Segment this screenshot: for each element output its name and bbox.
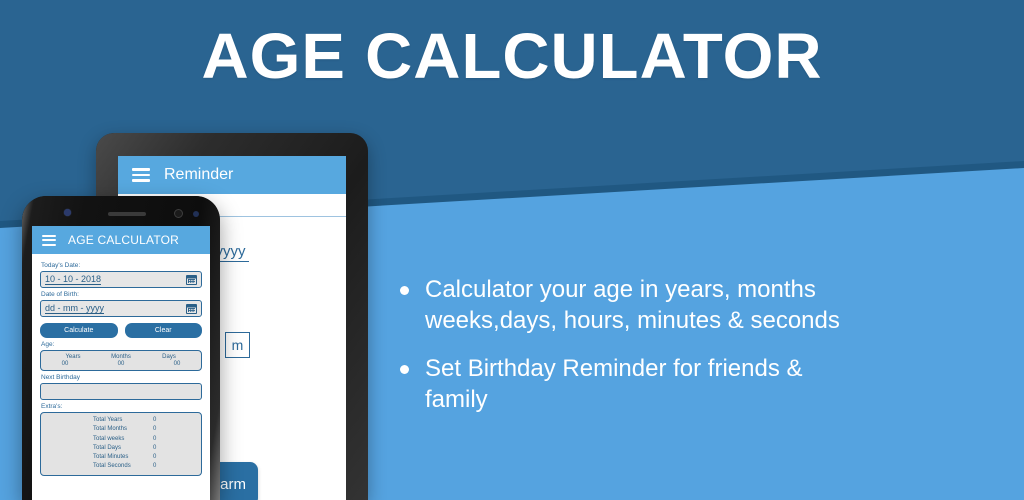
list-item: Calculator your age in years, months wee… [400,275,1000,336]
table-row: Total weeks 0 [41,435,201,444]
todays-date-input[interactable]: 10 - 10 - 2018 [40,271,202,288]
extras-key: Total weeks [93,435,143,444]
extras-value: 0 [143,425,163,434]
date-of-birth-label: Date of Birth: [41,291,202,298]
page-title: AGE CALCULATOR [0,24,1024,88]
proximity-sensor-icon [193,211,199,217]
age-values: 00 00 00 [41,361,201,367]
tablet-appbar: Reminder [118,156,346,194]
date-of-birth-input[interactable]: dd - mm - yyyy [40,300,202,317]
table-row: Total Years 0 [41,416,201,425]
age-column-days: Days [156,354,182,360]
extras-value: 0 [143,444,163,453]
extras-label: Extra's: [41,403,202,410]
feature-bullet-text: Set Birthday Reminder for friends & fami… [425,354,803,415]
extras-key: Total Years [93,416,143,425]
list-item: Set Birthday Reminder for friends & fami… [400,354,1000,415]
age-result-panel: Years Months Days 00 00 00 [40,350,202,371]
table-row: Total Seconds 0 [41,462,201,471]
bullet-dot-icon [400,286,409,295]
front-camera-icon [174,209,183,218]
phone-appbar-title: AGE CALCULATOR [68,233,179,247]
age-value-days: 00 [164,361,190,367]
calculate-button[interactable]: Calculate [40,323,118,338]
age-column-years: Years [60,354,86,360]
table-row: Total Days 0 [41,444,201,453]
table-row: Total Months 0 [41,425,201,434]
table-row: Total Minutes 0 [41,453,201,462]
calendar-icon[interactable] [186,304,197,314]
hamburger-icon[interactable] [42,235,56,246]
extras-value: 0 [143,462,163,471]
age-column-headers: Years Months Days [41,354,201,360]
notification-led-icon [64,209,71,216]
clear-button[interactable]: Clear [125,323,203,338]
phone-screen: AGE CALCULATOR Today's Date: 10 - 10 - 2… [32,226,210,500]
phone-appbar: AGE CALCULATOR [32,226,210,254]
extras-key: Total Days [93,444,143,453]
age-label: Age: [41,341,202,348]
extras-key: Total Seconds [93,462,143,471]
phone-top-bezel [22,196,220,226]
age-calculator-form: Today's Date: 10 - 10 - 2018 Date of Bir… [32,254,210,476]
hamburger-icon[interactable] [132,168,150,182]
date-of-birth-value: dd - mm - yyyy [45,303,104,314]
extras-value: 0 [143,453,163,462]
age-value-years: 00 [52,361,78,367]
todays-date-label: Today's Date: [41,262,202,269]
age-value-months: 00 [108,361,134,367]
age-column-months: Months [108,354,134,360]
feature-bullet-text: Calculator your age in years, months wee… [425,275,840,336]
extras-value: 0 [143,416,163,425]
phone-device-mockup: AGE CALCULATOR Today's Date: 10 - 10 - 2… [22,196,220,500]
todays-date-value: 10 - 10 - 2018 [45,274,101,285]
extras-value: 0 [143,435,163,444]
extras-panel: Total Years 0 Total Months 0 Total weeks… [40,412,202,476]
earpiece-speaker-icon [108,212,146,216]
next-birthday-field [40,383,202,400]
calendar-icon[interactable] [186,275,197,285]
next-birthday-label: Next Birthday [41,374,202,381]
tablet-time-box-2[interactable]: m [225,332,250,358]
extras-key: Total Minutes [93,453,143,462]
bullet-dot-icon [400,365,409,374]
form-actions: Calculate Clear [40,323,202,338]
tablet-appbar-title: Reminder [164,166,233,184]
feature-bullet-list: Calculator your age in years, months wee… [400,275,1000,434]
extras-key: Total Months [93,425,143,434]
